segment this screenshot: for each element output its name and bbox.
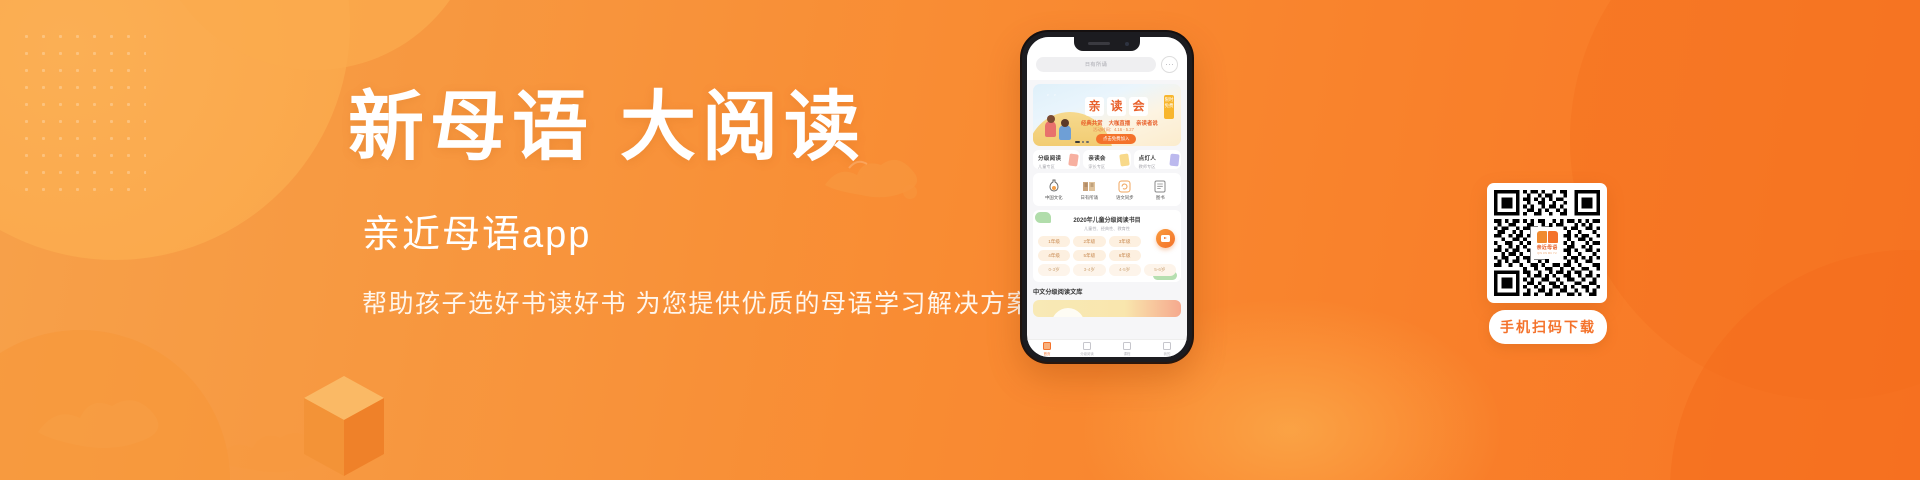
book-purple-icon (1169, 154, 1179, 167)
video-play-icon[interactable] (1156, 229, 1175, 248)
banner-tagline: 帮助孩子选好书读好书 为您提供优质的母语学习解决方案 (362, 288, 1008, 321)
category-card-parent-club[interactable]: 亲读会 家长专区 (1083, 150, 1130, 169)
hero-child-2 (1059, 125, 1071, 140)
app-name-subhead: 亲近母语app (362, 213, 1008, 259)
headline-part-2: 大阅读 (620, 86, 866, 170)
tab-label: 课程 (1124, 351, 1131, 356)
banner-copy: 新母语大阅读 亲近母语app 帮助孩子选好书读好书 为您提供优质的母语学习解决方… (348, 88, 1008, 321)
quick-icon-chinese-culture[interactable]: 中国文化 (1036, 179, 1072, 201)
cloud-swirl-bottom-left-icon (30, 372, 180, 452)
library-section-title: 中文分级阅读文库 (1033, 287, 1181, 296)
booklist-title: 2020年儿童分级阅读书目 (1038, 215, 1176, 224)
app-category-cards: 分级阅读 儿童专区 亲读会 家长专区 点灯人 教师专区 (1033, 150, 1181, 169)
tab-graded-reading[interactable]: 分级阅读 (1067, 340, 1107, 357)
hero-carousel-pager[interactable] (1075, 141, 1089, 143)
bg-blob-top-left-2 (150, 0, 480, 70)
age-tag[interactable]: 0-3岁 (1038, 264, 1070, 275)
age-tag[interactable]: 4-5岁 (1109, 264, 1141, 275)
page-title: 新母语大阅读 (348, 88, 1008, 169)
library-banner[interactable] (1033, 300, 1181, 317)
hero-subitem: 经典共赏 (1081, 119, 1103, 127)
quick-icon-label: 图书 (1143, 195, 1179, 201)
phone-screen: 日有所诵 ᵛ ᵛ 亲 读 会 限时免费 经典共赏 大咖直播 亲读者说 (1027, 37, 1187, 357)
birds-icon: ᵛ ᵛ (1047, 93, 1058, 99)
grade-tag[interactable]: 6年级 (1109, 250, 1141, 261)
hero-title-char: 读 (1107, 97, 1126, 116)
hero-ribbon-badge: 限时免费 (1164, 95, 1174, 119)
headline-part-1: 新母语 (348, 86, 594, 170)
tab-label: 分级阅读 (1080, 351, 1094, 356)
refresh-square-icon (1107, 179, 1143, 193)
grade-tag[interactable]: 4年级 (1038, 250, 1070, 261)
bg-blob-bottom-right (1670, 250, 1920, 480)
quick-icon-daily-recite[interactable]: 日有所诵 (1072, 179, 1108, 201)
category-card-teacher[interactable]: 点灯人 教师专区 (1134, 150, 1181, 169)
app-hero-banner[interactable]: ᵛ ᵛ 亲 读 会 限时免费 经典共赏 大咖直播 亲读者说 活动时间：4.16 … (1033, 84, 1181, 146)
grade-tag[interactable]: 1年级 (1038, 236, 1070, 247)
age-tag-row: 0-3岁 3-4岁 4-5岁 5-6岁 (1038, 264, 1176, 275)
qr-code-image: 亲近母语 QIN JIN MU YU (1494, 190, 1600, 296)
app-booklist-card[interactable]: 2020年儿童分级阅读书目 儿童性、经典性、教育性 1年级 2年级 3年级 4年… (1033, 210, 1181, 282)
app-tabbar: 首页 分级阅读 课程 我的 (1027, 339, 1187, 357)
grade-tag-row-2: 4年级 5年级 6年级 (1038, 250, 1176, 261)
tab-profile[interactable]: 我的 (1147, 340, 1187, 357)
hero-child-1 (1045, 121, 1056, 137)
tab-label: 首页 (1044, 351, 1051, 356)
age-tag[interactable]: 5-6岁 (1144, 264, 1176, 275)
quick-icon-label: 中国文化 (1036, 195, 1072, 201)
course-icon (1123, 342, 1131, 350)
tab-label: 我的 (1164, 351, 1171, 356)
hero-date-text: 活动时间：4.16 - 5.27 (1093, 127, 1134, 133)
quick-icon-textbook-sync[interactable]: 语文同步 (1107, 179, 1143, 201)
quick-icon-label: 语文同步 (1107, 195, 1143, 201)
hero-subitem: 亲读者说 (1136, 119, 1158, 127)
grade-tag[interactable]: 5年级 (1073, 250, 1105, 261)
age-tag[interactable]: 3-4岁 (1073, 264, 1105, 275)
book-red-icon (1069, 153, 1080, 166)
app-search-input[interactable]: 日有所诵 (1036, 57, 1156, 72)
phone-notch (1074, 37, 1140, 51)
promo-banner: 新母语大阅读 亲近母语app 帮助孩子选好书读好书 为您提供优质的母语学习解决方… (0, 0, 1920, 480)
cube-decoration-icon (300, 372, 388, 480)
quick-icon-label: 日有所诵 (1072, 195, 1108, 201)
open-book-icon (1072, 179, 1108, 193)
bg-blob-bottom-left (0, 330, 230, 480)
booklist-subtitle: 儿童性、经典性、教育性 (1038, 226, 1176, 232)
phone-mockup: 日有所诵 ᵛ ᵛ 亲 读 会 限时免费 经典共赏 大咖直播 亲读者说 (1022, 32, 1192, 362)
hero-title: 亲 读 会 (1085, 97, 1148, 116)
tab-course[interactable]: 课程 (1107, 340, 1147, 357)
qr-code-card: 亲近母语 QIN JIN MU YU (1487, 183, 1607, 303)
bg-dot-grid (18, 28, 146, 196)
book-yellow-icon (1119, 153, 1130, 166)
tab-home[interactable]: 首页 (1027, 340, 1067, 357)
grid-icon (1083, 342, 1091, 350)
qr-center-logo: 亲近母语 QIN JIN MU YU (1531, 227, 1563, 259)
hero-title-char: 会 (1129, 97, 1148, 116)
more-dots-icon[interactable] (1161, 56, 1178, 73)
hero-join-button[interactable]: 点击免费加入 (1096, 134, 1136, 144)
vase-icon (1036, 179, 1072, 193)
cloud-swirl-bottom-mid-icon (210, 408, 340, 478)
app-library-section: 中文分级阅读文库 (1033, 287, 1181, 317)
hero-subitems: 经典共赏 大咖直播 亲读者说 (1081, 119, 1158, 127)
user-icon (1163, 342, 1171, 350)
app-quick-icons: 中国文化 日有所诵 语文同步 (1033, 173, 1181, 206)
book-list-icon (1143, 179, 1179, 193)
logo-pinyin: QIN JIN MU YU (1537, 252, 1556, 255)
hero-title-char: 亲 (1085, 97, 1104, 116)
hero-subitem: 大咖直播 (1109, 119, 1131, 127)
grade-tag[interactable]: 3年级 (1109, 236, 1141, 247)
quick-icon-books[interactable]: 图书 (1143, 179, 1179, 201)
category-card-graded-reading[interactable]: 分级阅读 儿童专区 (1033, 150, 1080, 169)
home-icon (1043, 342, 1051, 350)
scan-download-button[interactable]: 手机扫码下载 (1489, 310, 1607, 344)
logo-name: 亲近母语 (1537, 244, 1558, 251)
logo-books-icon (1537, 231, 1558, 243)
grade-tag[interactable]: 2年级 (1073, 236, 1105, 247)
bg-blob-top-right (1570, 0, 1920, 400)
